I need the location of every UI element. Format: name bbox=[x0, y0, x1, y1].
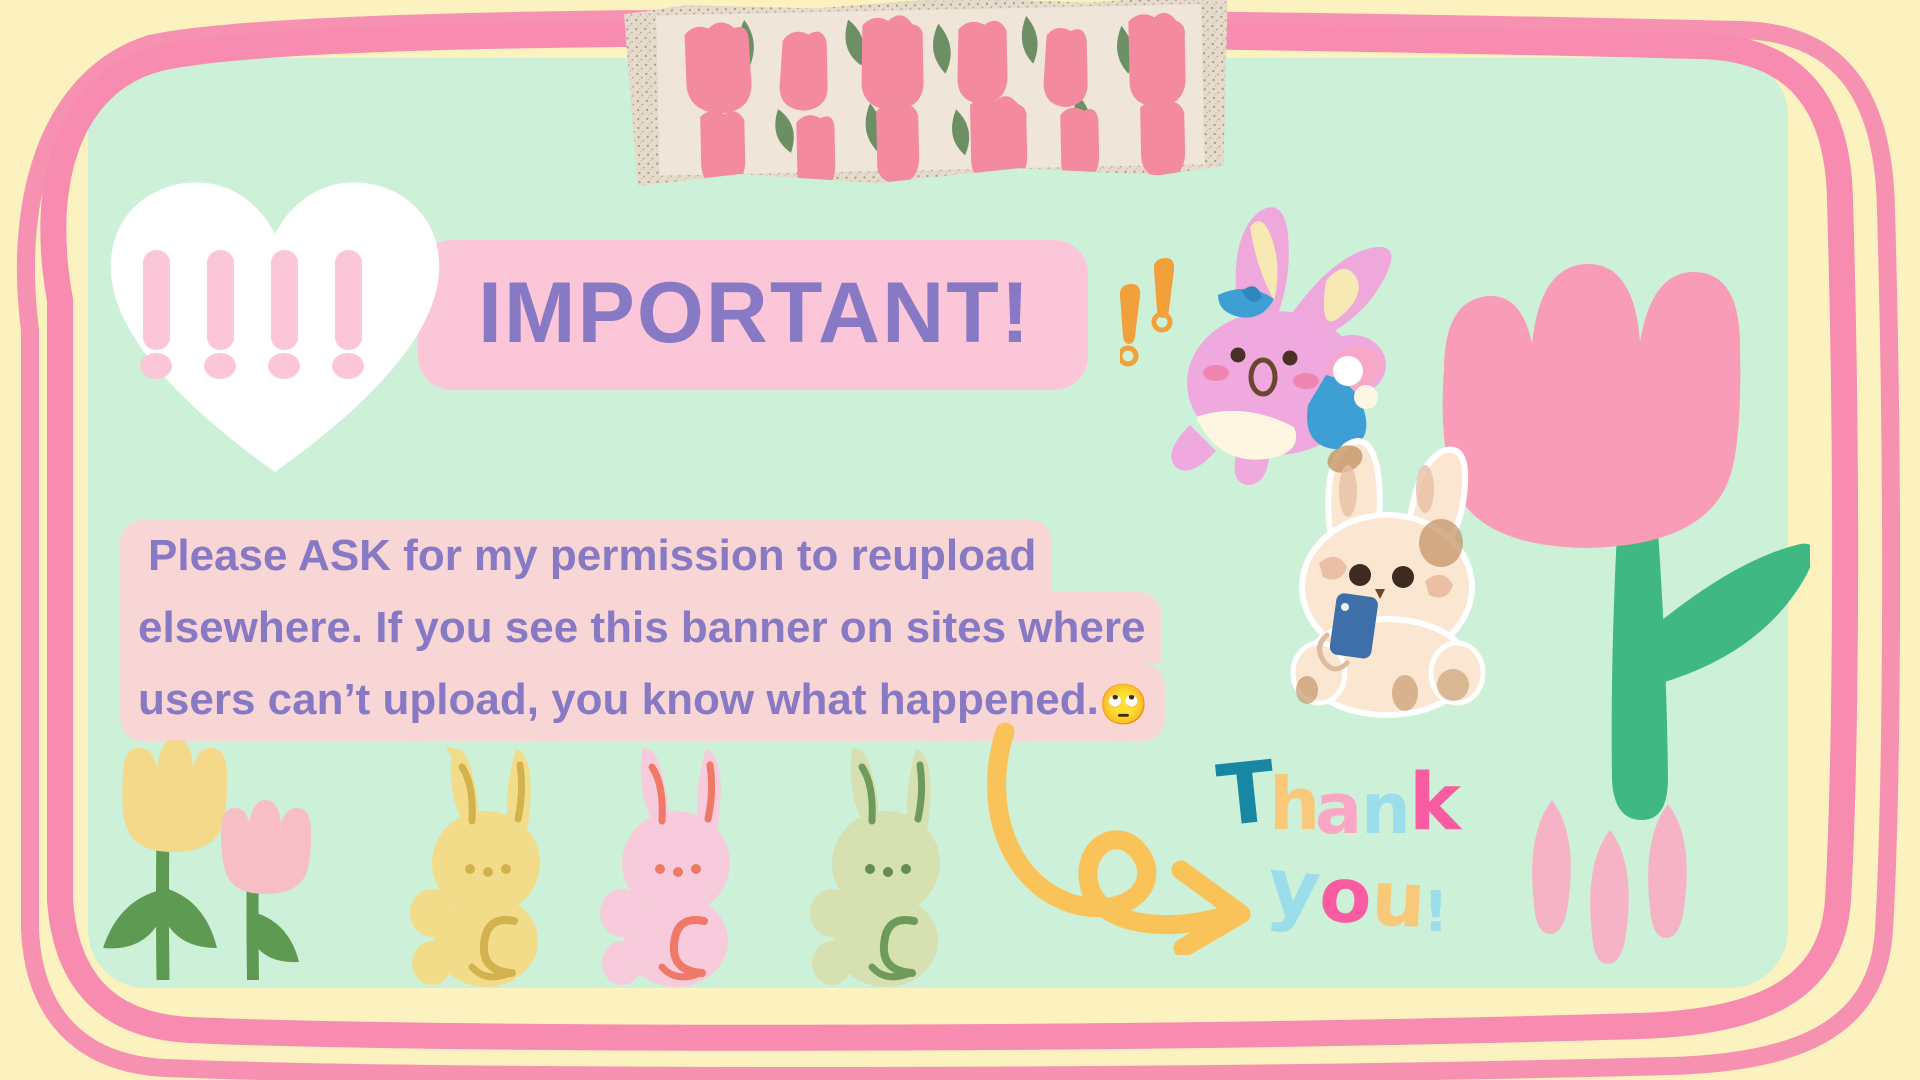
svg-text:k: k bbox=[1409, 758, 1463, 848]
message-line-1: Please ASK for my permission to reupload bbox=[120, 520, 1052, 592]
gummy-bunny-pink bbox=[600, 745, 760, 995]
banner-canvas: IMPORTANT! bbox=[0, 0, 1920, 1080]
thank-you-lettering: T h a n k y o u ! bbox=[1215, 745, 1515, 955]
message-line-2: elsewhere. If you see this banner on sit… bbox=[120, 592, 1161, 664]
page-title: IMPORTANT! bbox=[478, 258, 1031, 368]
washi-tape-tulips bbox=[616, 0, 1240, 220]
message-line-3: users can’t upload, you know what happen… bbox=[138, 675, 1099, 724]
svg-text:o: o bbox=[1317, 849, 1375, 941]
svg-text:u: u bbox=[1369, 853, 1428, 945]
svg-text:!: ! bbox=[1423, 880, 1449, 945]
falling-petals bbox=[1500, 790, 1720, 990]
svg-text:y: y bbox=[1263, 839, 1325, 937]
gummy-bunny-green bbox=[810, 745, 970, 995]
heart-with-exclamations-icon bbox=[95, 160, 455, 480]
message-block: Please ASK for my permission to reupload… bbox=[120, 520, 1190, 741]
svg-text:n: n bbox=[1361, 768, 1411, 850]
svg-text:h: h bbox=[1269, 762, 1320, 846]
tulip-pair bbox=[95, 740, 335, 980]
svg-text:a: a bbox=[1315, 768, 1362, 850]
phone-bunny-sticker bbox=[1275, 435, 1505, 720]
exclamation-marks-icon bbox=[1120, 250, 1210, 380]
gummy-bunny-yellow bbox=[410, 745, 570, 995]
